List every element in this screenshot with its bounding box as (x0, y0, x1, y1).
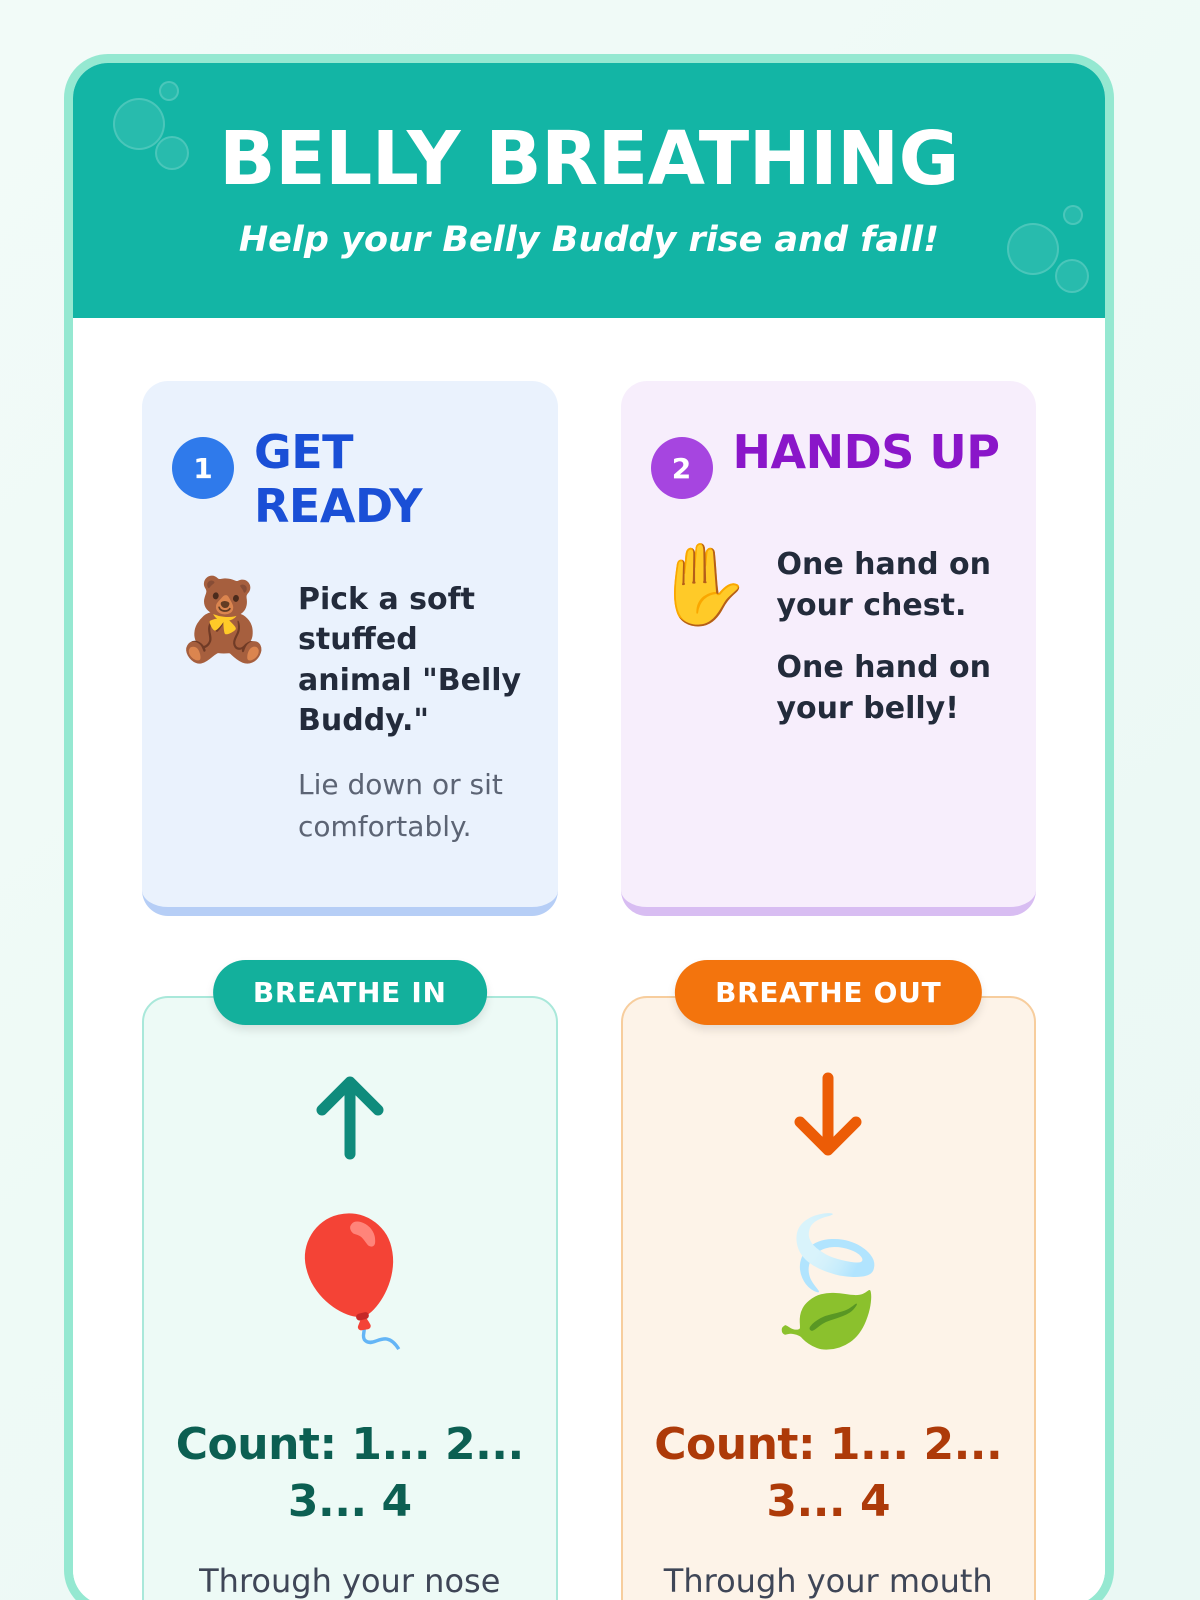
step-note: Lie down or sit comfortably. (298, 764, 528, 848)
bubble-icon (1007, 223, 1059, 275)
step-number-badge: 2 (651, 437, 713, 499)
bubble-icon (155, 136, 189, 170)
breathe-out-count: Count: 1... 2... 3... 4 (647, 1416, 1011, 1530)
down-arrow-icon (647, 1070, 1011, 1162)
bubble-icon (1063, 205, 1083, 225)
breathe-out-badge: BREATHE OUT (675, 960, 981, 1025)
step-line: Pick a soft stuffed animal "Belly Buddy.… (298, 580, 528, 742)
step-number-badge: 1 (172, 437, 234, 499)
step-title: GET READY (254, 425, 528, 534)
step-title: HANDS UP (733, 425, 1000, 479)
up-arrow-icon (168, 1070, 532, 1162)
breathe-in-badge: BREATHE IN (213, 960, 487, 1025)
step-header: 1 GET READY (172, 425, 528, 534)
balloon-emoji: 🎈 (168, 1220, 532, 1344)
bubble-icon (159, 81, 179, 101)
page-title: BELLY BREATHING (219, 121, 959, 199)
leaves-emoji: 🍃 (647, 1220, 1011, 1344)
breathe-in-column: BREATHE IN 🎈 Count: 1... 2... 3... 4 Thr… (142, 960, 558, 1600)
page-subtitle: Help your Belly Buddy rise and fall! (239, 220, 939, 260)
breathe-in-count: Count: 1... 2... 3... 4 (168, 1416, 532, 1530)
poster-frame: BELLY BREATHING Help your Belly Buddy ri… (64, 54, 1114, 1600)
bubble-icon (1055, 259, 1089, 293)
breathe-out-panel: 🍃 Count: 1... 2... 3... 4 Through your m… (621, 996, 1037, 1600)
breathe-out-through: Through your mouth (647, 1562, 1011, 1600)
step-content: 🧸 Pick a soft stuffed animal "Belly Budd… (172, 580, 528, 848)
breathe-in-through: Through your nose (168, 1562, 532, 1600)
breathe-row: BREATHE IN 🎈 Count: 1... 2... 3... 4 Thr… (73, 916, 1105, 1600)
teddy-bear-emoji: 🧸 (172, 580, 276, 848)
step-header: 2 HANDS UP (651, 425, 1007, 499)
breathe-out-column: BREATHE OUT 🍃 Count: 1... 2... 3... 4 Th… (621, 960, 1037, 1600)
step-text-block: One hand on your chest. One hand on your… (777, 545, 1007, 729)
poster-body: 1 GET READY 🧸 Pick a soft stuffed animal… (73, 318, 1105, 1600)
step-text-block: Pick a soft stuffed animal "Belly Buddy.… (298, 580, 528, 848)
breathe-in-panel: 🎈 Count: 1... 2... 3... 4 Through your n… (142, 996, 558, 1600)
steps-row: 1 GET READY 🧸 Pick a soft stuffed animal… (73, 318, 1105, 916)
step-line: One hand on your chest. (777, 545, 1007, 626)
poster-header: BELLY BREATHING Help your Belly Buddy ri… (73, 63, 1105, 318)
step-content: ✋ One hand on your chest. One hand on yo… (651, 545, 1007, 729)
step-card-get-ready: 1 GET READY 🧸 Pick a soft stuffed animal… (142, 381, 558, 916)
raised-hand-emoji: ✋ (651, 545, 755, 729)
step-card-hands-up: 2 HANDS UP ✋ One hand on your chest. One… (621, 381, 1037, 916)
poster-page: BELLY BREATHING Help your Belly Buddy ri… (0, 0, 1200, 1600)
step-line: One hand on your belly! (777, 648, 1007, 729)
